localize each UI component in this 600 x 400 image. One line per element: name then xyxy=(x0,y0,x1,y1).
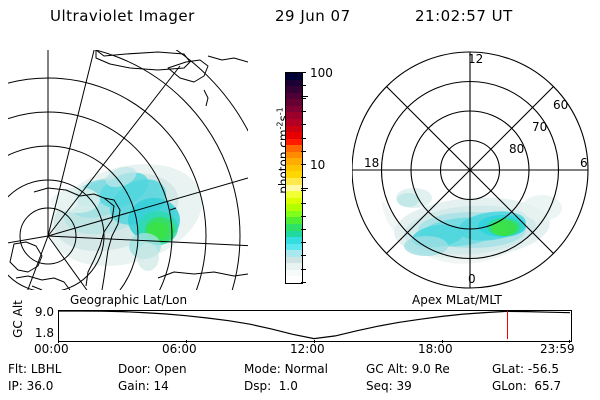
header-bar: Ultraviolet Imager 29 Jun 07 21:02:57 UT xyxy=(0,4,600,30)
status-gain-value: 14 xyxy=(153,379,168,393)
status-door: Door: Open xyxy=(118,362,187,376)
gc-alt-axis-text: GC Alt xyxy=(11,297,25,341)
colorbar-tick xyxy=(301,138,306,139)
status-flt: Flt: LBHL xyxy=(8,362,61,376)
mlt-spokes xyxy=(352,52,588,288)
status-ip-label: IP: xyxy=(8,379,23,393)
status-gcalt-value: 9.0 Re xyxy=(412,362,450,376)
colorbar-tick xyxy=(301,269,306,270)
status-glon-value: 65.7 xyxy=(534,379,561,393)
status-seq-label: Seq: xyxy=(366,379,393,393)
colorbar-ticks xyxy=(301,72,309,284)
mlt-label-18: 18 xyxy=(364,156,379,170)
status-gcalt-label: GC Alt: xyxy=(366,362,408,376)
colorbar-unit-exp2: -1 xyxy=(276,107,285,115)
orbit-altitude-curve xyxy=(58,310,570,340)
status-row-2: IP: 36.0 Gain: 14 Dsp: 1.0 Seq: 39 GLon:… xyxy=(0,379,600,396)
x-tick-label-2359: 23:59 xyxy=(540,342,575,356)
colorbar-tick-major xyxy=(301,96,308,97)
mlat-label-60: 60 xyxy=(553,98,568,112)
colorbar-tick-label-10: 10 xyxy=(310,158,325,172)
status-glon: GLon: 65.7 xyxy=(492,379,561,393)
status-seq: Seq: 39 xyxy=(366,379,412,393)
mlt-dial-svg xyxy=(352,50,592,290)
status-door-label: Door: xyxy=(118,362,151,376)
status-glon-label: GLon: xyxy=(492,379,527,393)
status-ip-value: 36.0 xyxy=(27,379,54,393)
colorbar-tick xyxy=(301,203,306,204)
y-tick-label-high: 9.0 xyxy=(28,305,54,319)
geographic-plot-svg xyxy=(8,50,248,290)
colorbar-tick xyxy=(301,111,306,112)
colorbar-tick xyxy=(301,190,306,191)
colorbar-segment xyxy=(286,276,302,283)
status-gain: Gain: 14 xyxy=(118,379,169,393)
colorbar-tick xyxy=(301,98,306,99)
y-tick-label-low: 1.8 xyxy=(28,326,54,340)
x-tick-label-0000: 00:00 xyxy=(34,342,69,356)
colorbar-tick xyxy=(301,255,306,256)
mlat-label-70: 70 xyxy=(532,120,547,134)
colorbar-tick xyxy=(301,124,306,125)
colorbar-tick xyxy=(301,216,306,217)
mlt-label-0: 0 xyxy=(468,272,476,286)
colorbar-tick xyxy=(301,177,306,178)
colorbar-group: photon cm-2s-1 100 10 xyxy=(255,48,350,293)
colorbar-tick xyxy=(301,85,306,86)
status-mode-value: Normal xyxy=(285,362,328,376)
status-gain-label: Gain: xyxy=(118,379,150,393)
observation-date: 29 Jun 07 xyxy=(275,7,351,25)
status-mode-label: Mode: xyxy=(244,362,281,376)
colorbar-tick xyxy=(301,164,306,165)
mlat-label-80: 80 xyxy=(509,142,524,156)
colorbar-gradient xyxy=(286,73,302,283)
geographic-panel-label: Geographic Lat/Lon xyxy=(70,293,187,307)
colorbar-tick xyxy=(301,151,306,152)
status-flt-label: Flt: xyxy=(8,362,27,376)
status-mode: Mode: Normal xyxy=(244,362,328,376)
status-row-1: Flt: LBHL Door: Open Mode: Normal GC Alt… xyxy=(0,362,600,379)
status-dsp: Dsp: 1.0 xyxy=(244,379,298,393)
colorbar-tick-major xyxy=(301,188,308,189)
instrument-title: Ultraviolet Imager xyxy=(50,7,195,25)
status-flt-value: LBHL xyxy=(31,362,62,376)
status-gcalt: GC Alt: 9.0 Re xyxy=(366,362,450,376)
status-glat-label: GLat: xyxy=(492,362,524,376)
colorbar-tick-label-100: 100 xyxy=(310,66,333,80)
geographic-image-panel[interactable] xyxy=(8,50,248,290)
status-footer: Flt: LBHL Door: Open Mode: Normal GC Alt… xyxy=(0,362,600,400)
apex-mlat-mlt-panel[interactable]: 12 18 6 0 60 70 80 xyxy=(352,50,592,290)
mlt-label-12: 12 xyxy=(468,52,483,66)
observation-time: 21:02:57 UT xyxy=(415,7,513,25)
colorbar-unit-exp1: -2 xyxy=(276,121,285,129)
x-tick-label-1200: 12:00 xyxy=(290,342,325,356)
status-ip: IP: 36.0 xyxy=(8,379,53,393)
orbit-altitude-strip[interactable]: Geographic Lat/Lon Apex MLat/MLT GC Alt … xyxy=(0,292,600,358)
colorbar-tick xyxy=(301,242,306,243)
apex-panel-label: Apex MLat/MLT xyxy=(412,293,502,307)
colorbar-tick xyxy=(301,282,306,283)
mlt-label-6: 6 xyxy=(580,156,588,170)
status-door-value: Open xyxy=(155,362,187,376)
colorbar-tick xyxy=(301,229,306,230)
status-dsp-label: Dsp: xyxy=(244,379,271,393)
status-dsp-value: 1.0 xyxy=(279,379,298,393)
x-tick-label-0600: 06:00 xyxy=(162,342,197,356)
status-seq-value: 39 xyxy=(397,379,412,393)
x-tick-label-1800: 18:00 xyxy=(418,342,453,356)
current-time-marker xyxy=(507,311,508,339)
colorbar-tick xyxy=(301,72,306,73)
status-glat-value: -56.5 xyxy=(528,362,559,376)
gc-alt-axis-label: GC Alt xyxy=(8,306,28,346)
status-glat: GLat: -56.5 xyxy=(492,362,559,376)
